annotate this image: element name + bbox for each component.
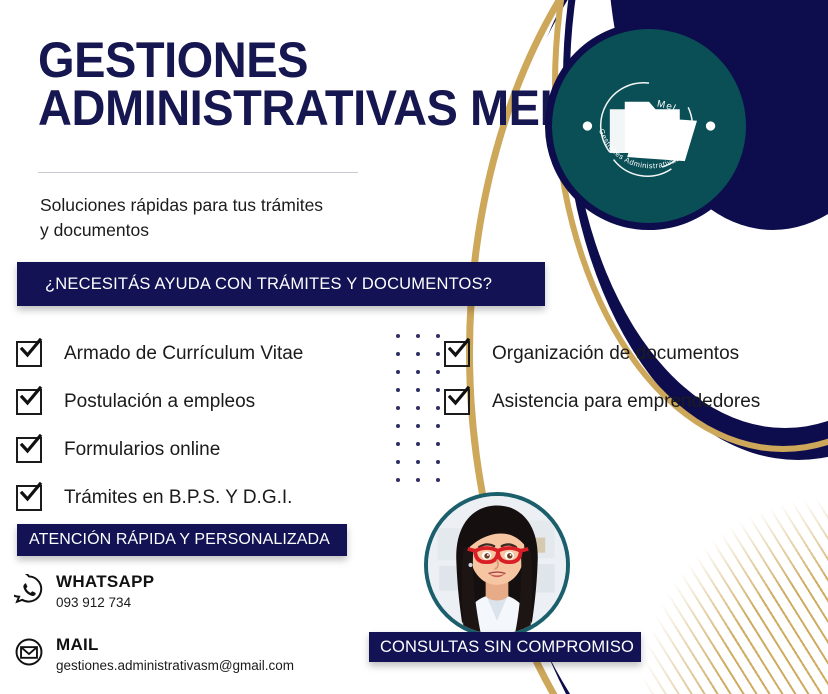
decor-dot bbox=[436, 478, 440, 482]
avatar bbox=[424, 492, 570, 638]
list-item: Formularios online bbox=[16, 426, 386, 474]
checkbox-checked-icon bbox=[444, 341, 470, 367]
decor-dot bbox=[416, 406, 420, 410]
list-item: Trámites en B.P.S. Y D.G.I. bbox=[16, 474, 386, 522]
service-list-right: Organización de documentos Asistencia pa… bbox=[444, 330, 824, 426]
banner-atencion: ATENCIÓN RÁPIDA Y PERSONALIZADA bbox=[17, 524, 347, 556]
contact-value: 093 912 734 bbox=[56, 595, 154, 610]
list-item-label: Armado de Currículum Vitae bbox=[64, 343, 303, 365]
logo-graphic: Mel Gestiones Administrativas bbox=[552, 29, 746, 223]
decor-dot bbox=[436, 388, 440, 392]
title-line-2: ADMINISTRATIVAS MEL bbox=[38, 84, 527, 132]
subtitle-line-2: y documentos bbox=[40, 218, 460, 243]
decor-dot bbox=[436, 406, 440, 410]
decor-dot bbox=[396, 460, 400, 464]
banner-atencion-label: ATENCIÓN RÁPIDA Y PERSONALIZADA bbox=[29, 531, 330, 549]
list-item-label: Trámites en B.P.S. Y D.G.I. bbox=[64, 487, 292, 509]
decor-dot bbox=[396, 424, 400, 428]
checkbox-checked-icon bbox=[16, 437, 42, 463]
decor-dot bbox=[436, 442, 440, 446]
decor-dot bbox=[416, 352, 420, 356]
decor-dot bbox=[396, 478, 400, 482]
decor-dot bbox=[396, 388, 400, 392]
decor-dot bbox=[416, 424, 420, 428]
list-item-label: Postulación a empleos bbox=[64, 391, 255, 413]
logo-badge: Mel Gestiones Administrativas bbox=[545, 22, 753, 230]
banner-question: ¿NECESITÁS AYUDA CON TRÁMITES Y DOCUMENT… bbox=[17, 262, 545, 306]
banner-consultas-label: CONSULTAS SIN COMPROMISO bbox=[380, 638, 634, 657]
service-list-left: Armado de Currículum Vitae Postulación a… bbox=[16, 330, 386, 522]
decor-dot bbox=[436, 460, 440, 464]
decor-dot bbox=[396, 406, 400, 410]
mail-icon bbox=[14, 637, 44, 667]
contact-label: MAIL bbox=[56, 635, 294, 655]
banner-question-label: ¿NECESITÁS AYUDA CON TRÁMITES Y DOCUMENT… bbox=[45, 275, 492, 294]
decor-dot bbox=[436, 370, 440, 374]
avatar-illustration bbox=[428, 496, 566, 634]
decor-dot bbox=[396, 370, 400, 374]
decor-dot bbox=[416, 334, 420, 338]
contact-label: WHATSAPP bbox=[56, 572, 154, 592]
checkbox-checked-icon bbox=[16, 389, 42, 415]
decor-dot bbox=[416, 460, 420, 464]
list-item: Armado de Currículum Vitae bbox=[16, 330, 386, 378]
list-item-label: Formularios online bbox=[64, 439, 220, 461]
whatsapp-icon bbox=[14, 574, 44, 604]
decor-dot bbox=[396, 334, 400, 338]
header-divider bbox=[38, 172, 358, 173]
decor-dot bbox=[396, 442, 400, 446]
checkbox-checked-icon bbox=[16, 341, 42, 367]
decor-dot bbox=[436, 352, 440, 356]
banner-consultas: CONSULTAS SIN COMPROMISO bbox=[369, 632, 641, 662]
list-item: Organización de documentos bbox=[444, 330, 824, 378]
title-line-1: GESTIONES bbox=[38, 36, 527, 84]
decor-gold-pinstripes bbox=[628, 484, 828, 694]
decor-dot bbox=[436, 334, 440, 338]
decor-dot bbox=[416, 370, 420, 374]
contact-value: gestiones.administrativasm@gmail.com bbox=[56, 658, 294, 673]
list-item-label: Asistencia para emprendedores bbox=[492, 391, 760, 413]
list-item: Postulación a empleos bbox=[16, 378, 386, 426]
decor-dot bbox=[436, 424, 440, 428]
flyer-canvas: GESTIONES ADMINISTRATIVAS MEL Soluciones… bbox=[0, 0, 828, 694]
subtitle: Soluciones rápidas para tus trámites y d… bbox=[40, 193, 460, 244]
decor-dot bbox=[416, 388, 420, 392]
checkbox-checked-icon bbox=[16, 485, 42, 511]
contact-mail[interactable]: MAIL gestiones.administrativasm@gmail.co… bbox=[14, 635, 294, 673]
decor-dot bbox=[416, 478, 420, 482]
list-item-label: Organización de documentos bbox=[492, 343, 739, 365]
page-title: GESTIONES ADMINISTRATIVAS MEL bbox=[38, 36, 527, 132]
list-item: Asistencia para emprendedores bbox=[444, 378, 824, 426]
decor-dot bbox=[416, 442, 420, 446]
subtitle-line-1: Soluciones rápidas para tus trámites bbox=[40, 193, 460, 218]
contact-whatsapp[interactable]: WHATSAPP 093 912 734 bbox=[14, 572, 154, 610]
checkbox-checked-icon bbox=[444, 389, 470, 415]
decor-dot bbox=[396, 352, 400, 356]
